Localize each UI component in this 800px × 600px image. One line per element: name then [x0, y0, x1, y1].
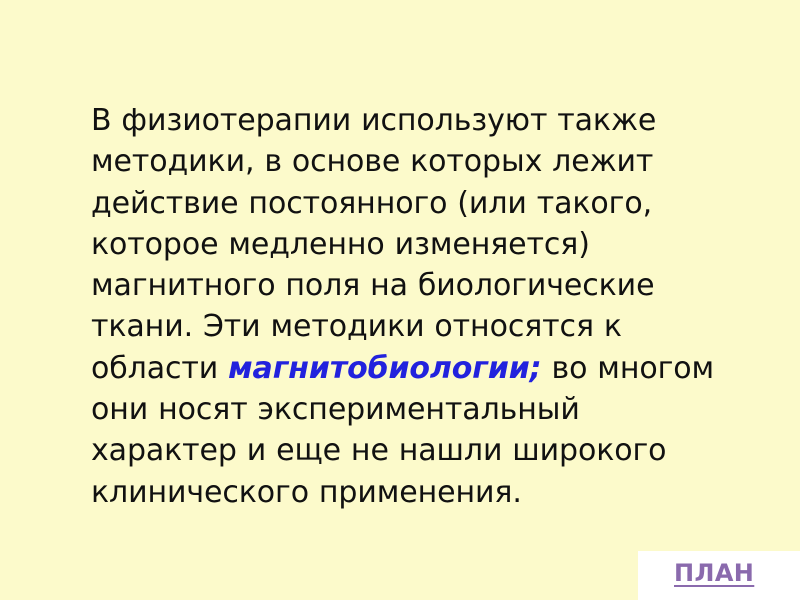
plan-link-panel: ПЛАН	[638, 551, 800, 600]
body-text-emphasis-term: магнитобиологии;	[228, 351, 541, 386]
slide-body-paragraph: В физиотерапии используют также методики…	[91, 100, 721, 513]
slide-canvas: В физиотерапии используют также методики…	[0, 0, 800, 600]
plan-link[interactable]: ПЛАН	[674, 559, 754, 587]
body-text-lead: В физиотерапии используют также методики…	[91, 103, 656, 386]
